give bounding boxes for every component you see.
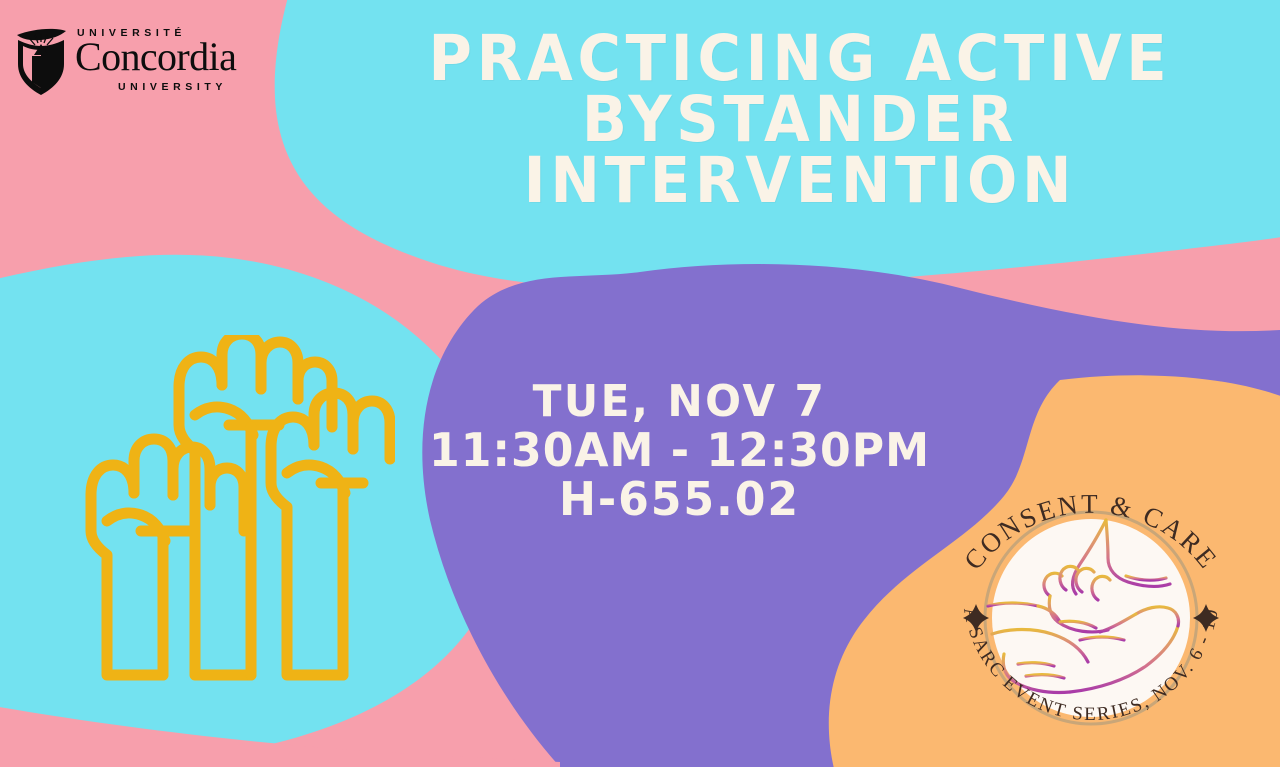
fist-left	[91, 439, 244, 675]
fist-center	[179, 335, 332, 675]
logo-line-bottom: UNIVERSITY	[118, 81, 227, 93]
title-line-3: INTERVENTION	[382, 150, 1219, 211]
poster-title: PRACTICING ACTIVE BYSTANDER INTERVENTION	[355, 28, 1245, 211]
logo-wordmark: Concordia	[75, 34, 237, 79]
concordia-university-logo: UNIVERSITÉ Concordia UNIVERSITY	[14, 22, 276, 100]
poster-canvas: UNIVERSITÉ Concordia UNIVERSITY PRACTICI…	[0, 0, 1280, 767]
title-line-1: PRACTICING ACTIVE	[382, 28, 1219, 89]
fist-right	[271, 393, 390, 675]
title-line-2: BYSTANDER	[382, 89, 1219, 150]
three-raised-fists-icon	[55, 335, 395, 685]
event-room: H-655.02	[423, 475, 937, 525]
concordia-shield-icon	[17, 29, 66, 95]
event-details: TUE, NOV 7 11:30AM - 12:30PM H-655.02	[412, 378, 947, 525]
consent-and-care-seal: CONSENT & CARE A SARC EVENT SERIES, NOV.…	[930, 458, 1252, 767]
event-date: TUE, NOV 7	[423, 378, 937, 426]
event-time: 11:30AM - 12:30PM	[423, 426, 937, 476]
